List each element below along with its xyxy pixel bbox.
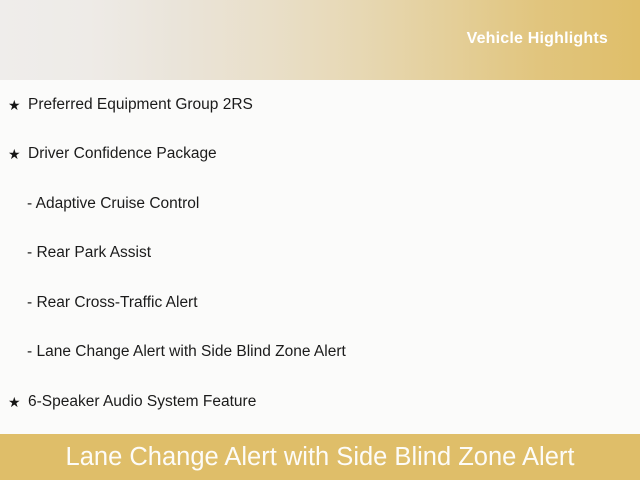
caption-bar: Lane Change Alert with Side Blind Zone A… (0, 434, 640, 480)
list-item: ★ 6-Speaker Audio System Feature (0, 377, 640, 427)
star-icon: ★ (8, 147, 26, 161)
caption-text: Lane Change Alert with Side Blind Zone A… (66, 442, 575, 472)
list-item: ★ Preferred Equipment Group 2RS (0, 80, 640, 130)
list-item-label: Preferred Equipment Group 2RS (28, 95, 253, 115)
list-item-label: - Rear Cross-Traffic Alert (27, 293, 198, 313)
list-item: - Lane Change Alert with Side Blind Zone… (0, 328, 640, 378)
list-item-label: 6-Speaker Audio System Feature (28, 392, 256, 412)
star-icon: ★ (8, 98, 26, 112)
list-item: - Rear Park Assist (0, 229, 640, 279)
list-item: ★ Driver Confidence Package (0, 130, 640, 180)
list-item: - Adaptive Cruise Control (0, 179, 640, 229)
vehicle-highlights-slide: Vehicle Highlights ★ Preferred Equipment… (0, 0, 640, 480)
list-item-label: Driver Confidence Package (28, 144, 217, 164)
header-band: Vehicle Highlights (0, 0, 640, 80)
list-item: - Rear Cross-Traffic Alert (0, 278, 640, 328)
list-item-label: - Adaptive Cruise Control (27, 194, 199, 214)
list-item-label: - Rear Park Assist (27, 243, 151, 263)
star-icon: ★ (8, 395, 26, 409)
list-item-label: - Lane Change Alert with Side Blind Zone… (27, 342, 346, 362)
highlights-list: ★ Preferred Equipment Group 2RS ★ Driver… (0, 80, 640, 434)
page-title: Vehicle Highlights (467, 29, 608, 49)
